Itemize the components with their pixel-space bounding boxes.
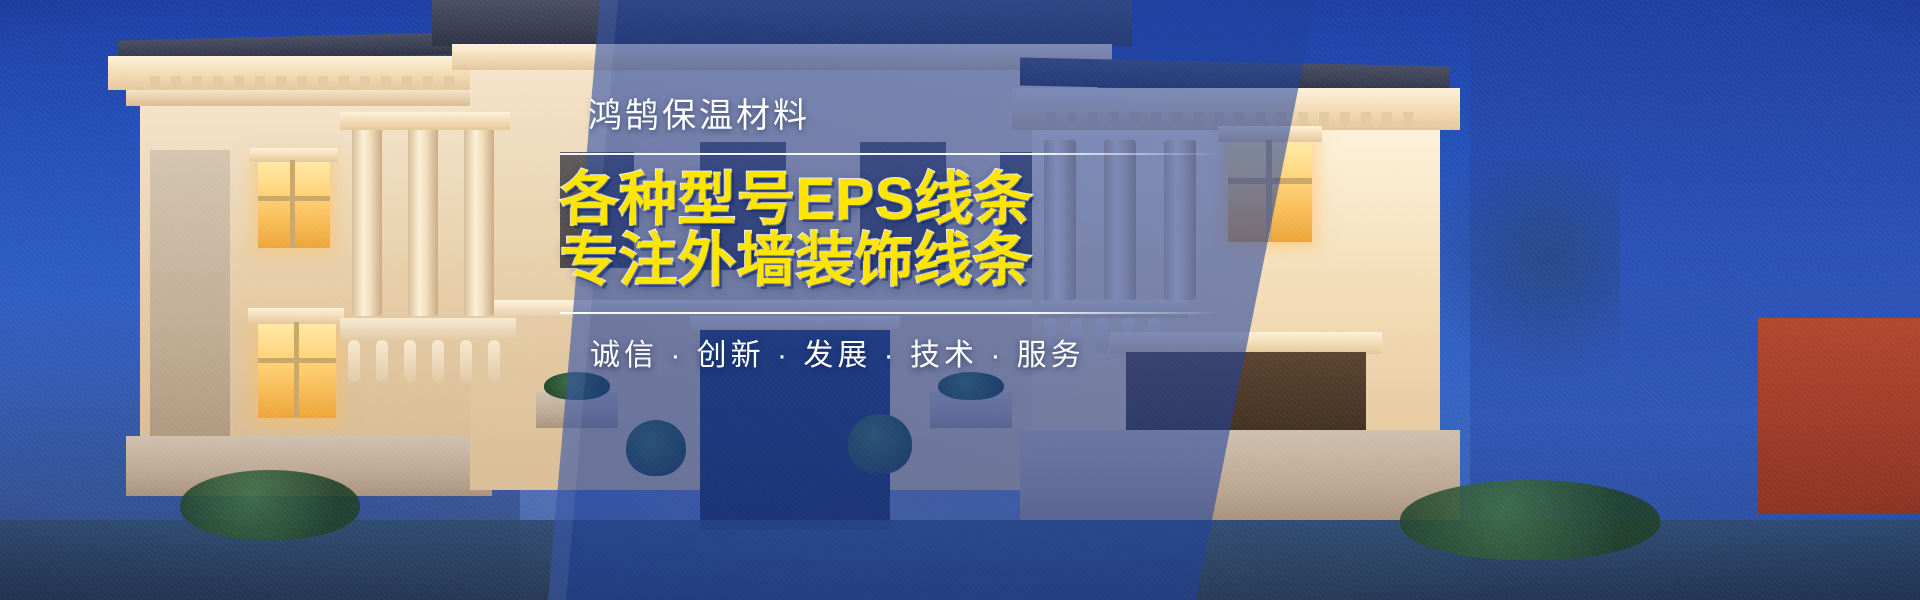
divider-bottom — [560, 312, 1220, 314]
headline: 各种型号EPS线条 专注外墙装饰线条 — [560, 169, 1260, 292]
headline-line-1: 各种型号EPS线条 — [560, 169, 1260, 230]
portico-columns — [352, 126, 494, 316]
portico-architrave — [340, 112, 510, 130]
divider-top — [560, 153, 1220, 155]
planter-shrub — [544, 372, 610, 400]
left-wing-dentils — [150, 76, 454, 90]
tree-silhouette — [1440, 160, 1620, 400]
main-roof — [432, 0, 1132, 46]
promo-banner: 鸿鹄保温材料 各种型号EPS线条 专注外墙装饰线条 诚信 · 创新 · 发展 ·… — [0, 0, 1920, 600]
planter-shrub — [938, 372, 1004, 400]
right-wing-base — [1020, 430, 1460, 520]
window-mullion — [290, 160, 295, 248]
balusters — [348, 340, 500, 382]
window-mullion — [294, 322, 299, 418]
tagline: 诚信 · 创新 · 发展 · 技术 · 服务 — [590, 330, 1260, 374]
main-cornice — [452, 44, 1112, 70]
window-mullion — [1266, 140, 1272, 242]
shrub — [626, 420, 686, 476]
window-transom — [258, 358, 336, 363]
hedge — [180, 470, 360, 540]
window-transom — [258, 196, 330, 201]
left-wing-band — [126, 90, 486, 106]
hedge — [1400, 480, 1660, 560]
company-name: 鸿鹄保温材料 — [588, 96, 1260, 137]
left-wing-side-wall — [150, 150, 230, 436]
balustrade-rail — [340, 318, 516, 340]
headline-line-2: 专注外墙装饰线条 — [560, 230, 1260, 291]
red-structure — [1758, 318, 1920, 514]
banner-text-block: 鸿鹄保温材料 各种型号EPS线条 专注外墙装饰线条 诚信 · 创新 · 发展 ·… — [560, 96, 1260, 374]
shrub — [848, 414, 912, 474]
